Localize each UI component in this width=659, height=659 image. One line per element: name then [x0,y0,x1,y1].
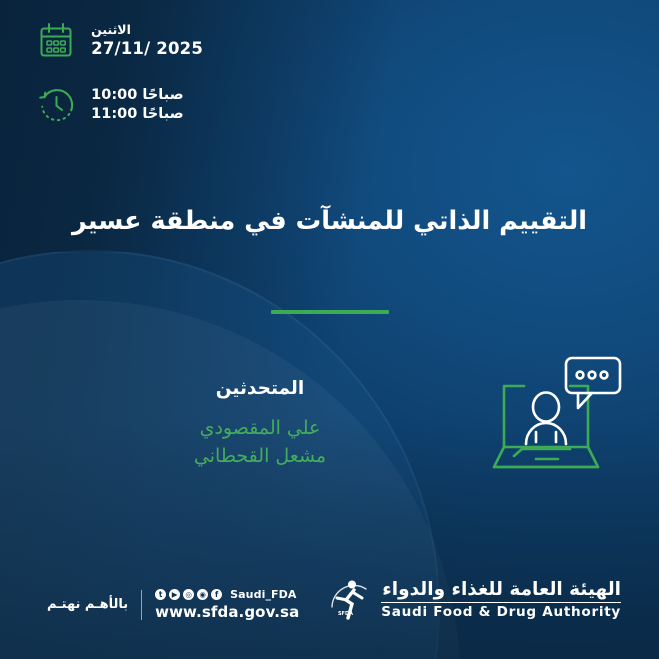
logo-text-arabic: الهيئة العامة للغذاء والدواء [381,579,621,603]
event-time-row: 10:00 صباحًا 11:00 صباحًا [35,84,183,126]
sfda-runner-logo-icon: SFDA [328,577,370,623]
event-title: التقييم الذاتي للمنشآت في منطقة عسير [0,204,659,238]
twitter-icon[interactable]: t [155,589,166,600]
event-day-name: الاثنين [91,22,203,39]
flickr-icon[interactable]: ◉ [197,589,208,600]
social-handle: Saudi_FDA [230,588,296,601]
laptop-person-speech-bubble-icon [492,352,624,476]
speaker-name-1: علي المقصودي [0,415,520,443]
instagram-icon[interactable]: ◎ [183,589,194,600]
sfda-logo: SFDA الهيئة العامة للغذاء والدواء Saudi … [328,577,621,623]
speakers-heading: المتحدثين [0,378,520,399]
event-date-value: 27/11/ 2025 [91,38,203,60]
footer-tagline: بالأهـم نهتـم [47,597,128,612]
calendar-icon [35,20,77,62]
event-time-end: 11:00 صباحًا [91,105,183,124]
speakers-section: المتحدثين علي المقصودي مشعل القحطاني [0,378,520,470]
footer-left: t ▶ ◎ ◉ f Saudi_FDA www.sfda.gov.sa بالأ… [47,588,299,621]
social-block: t ▶ ◎ ◉ f Saudi_FDA www.sfda.gov.sa [155,588,299,621]
footer-divider [141,590,142,620]
website-url[interactable]: www.sfda.gov.sa [155,603,299,621]
event-time-start: 10:00 صباحًا [91,86,183,105]
event-date-row: الاثنين 27/11/ 2025 [35,20,203,62]
facebook-icon[interactable]: f [211,589,222,600]
event-meta: الاثنين 27/11/ 2025 10:00 صباحًا 11:00 ص… [35,20,203,126]
speaker-name-2: مشعل القحطاني [0,443,520,471]
clock-icon [35,84,77,126]
green-divider [271,310,389,314]
logo-text-english: Saudi Food & Drug Authority [381,605,621,621]
svg-text:SFDA: SFDA [338,611,353,617]
social-icons-row: t ▶ ◎ ◉ f Saudi_FDA [155,588,299,601]
webinar-banner: الاثنين 27/11/ 2025 10:00 صباحًا 11:00 ص… [0,0,659,659]
youtube-icon[interactable]: ▶ [169,589,180,600]
